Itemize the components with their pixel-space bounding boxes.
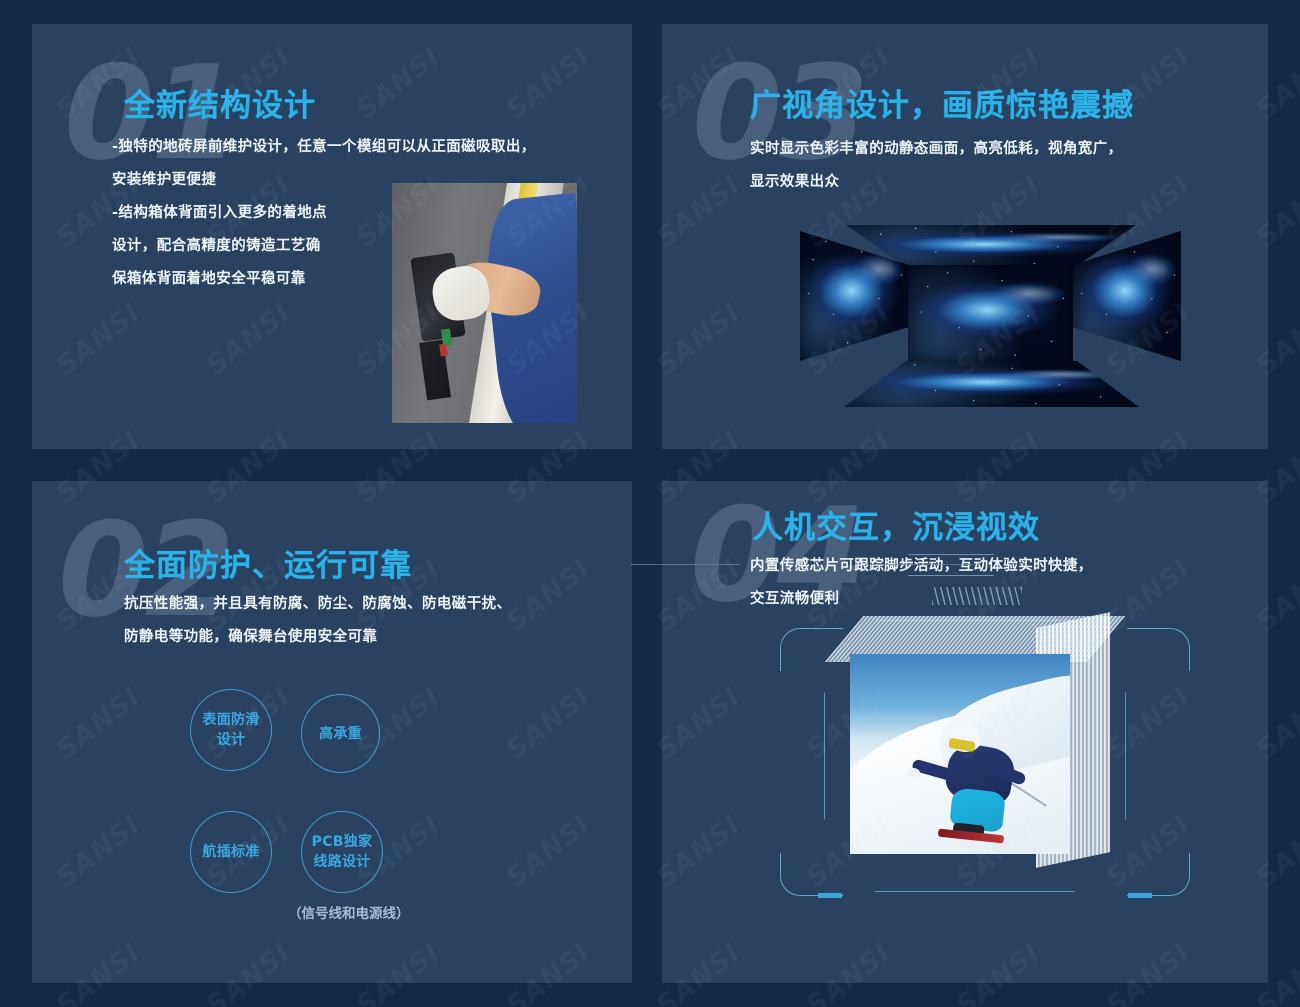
corner-dash-left [818,893,842,898]
feature-circle-anti-slip-label: 表面防滑 设计 [202,710,259,750]
skier-led-cube-photo [780,592,1190,932]
feature-circle-anti-slip[interactable]: 表面防滑 设计 [190,689,272,771]
stars-back [908,265,1073,363]
feature-circle-high-load[interactable]: 高承重 [301,694,380,773]
feature-circle-pcb-circuit-label: PCB独家 线路设计 [312,832,373,872]
corner-bracket-top-right-icon [1127,628,1190,671]
corner-dash-right [1128,893,1152,898]
panel-01-title: 全新结构设计 [124,80,316,125]
led-cube [850,654,1108,860]
panel-03-body-line-2: 显示效果出众 [750,166,1123,199]
led-panel-floor [844,361,1139,407]
panel-02-body: 抗压性能强，并且具有防腐、防尘、防腐蚀、防电磁干扰、 防静电等功能，确保舞台使用… [124,588,511,654]
front-maintenance-photo [392,183,577,423]
decor-tick-marks [932,587,1022,605]
feature-circle-aviation-plug-label: 航插标准 [202,842,259,862]
panel-03-title: 广视角设计，画质惊艳震撼 [750,80,1134,125]
feature-circle-high-load-label: 高承重 [319,724,362,744]
immersive-led-room-galaxy [786,221,1196,411]
slide-board: 01 全新结构设计 -独特的地砖屏前维护设计，任意一个模组可以从正面磁吸取出， … [0,0,1300,1007]
led-panel-back-wall [908,265,1073,363]
stars-floor [844,361,1139,407]
panel-04-title: 人机交互，沉浸视效 [752,502,1040,547]
skier-scene [850,654,1070,854]
corner-bracket-bottom-left-icon [780,853,843,896]
feature-circle-pcb-circuit[interactable]: PCB独家 线路设计 [301,811,383,893]
decor-line-left [630,564,740,565]
feature-circle-aviation-plug[interactable]: 航插标准 [190,811,272,893]
corner-bracket-bottom-right-icon [1127,853,1190,896]
panel-02-body-line-2: 防静电等功能，确保舞台使用安全可靠 [124,621,511,654]
panel-01-body-line-1: -独特的地砖屏前维护设计，任意一个模组可以从正面磁吸取出， [112,131,536,164]
panel-02-body-line-1: 抗压性能强，并且具有防腐、防尘、防腐蚀、防电磁干扰、 [124,588,511,621]
panel-03-body: 实时显示色彩丰富的动静态画面，高亮低耗，视角宽广， 显示效果出众 [750,133,1123,199]
panel-02-footnote: （信号线和电源线） [288,902,410,922]
panel-02-title: 全面防护、运行可靠 [124,540,412,585]
decor-hexagon-pill [898,554,1004,576]
panel-03-body-line-1: 实时显示色彩丰富的动静态画面，高亮低耗，视角宽广， [750,133,1123,166]
